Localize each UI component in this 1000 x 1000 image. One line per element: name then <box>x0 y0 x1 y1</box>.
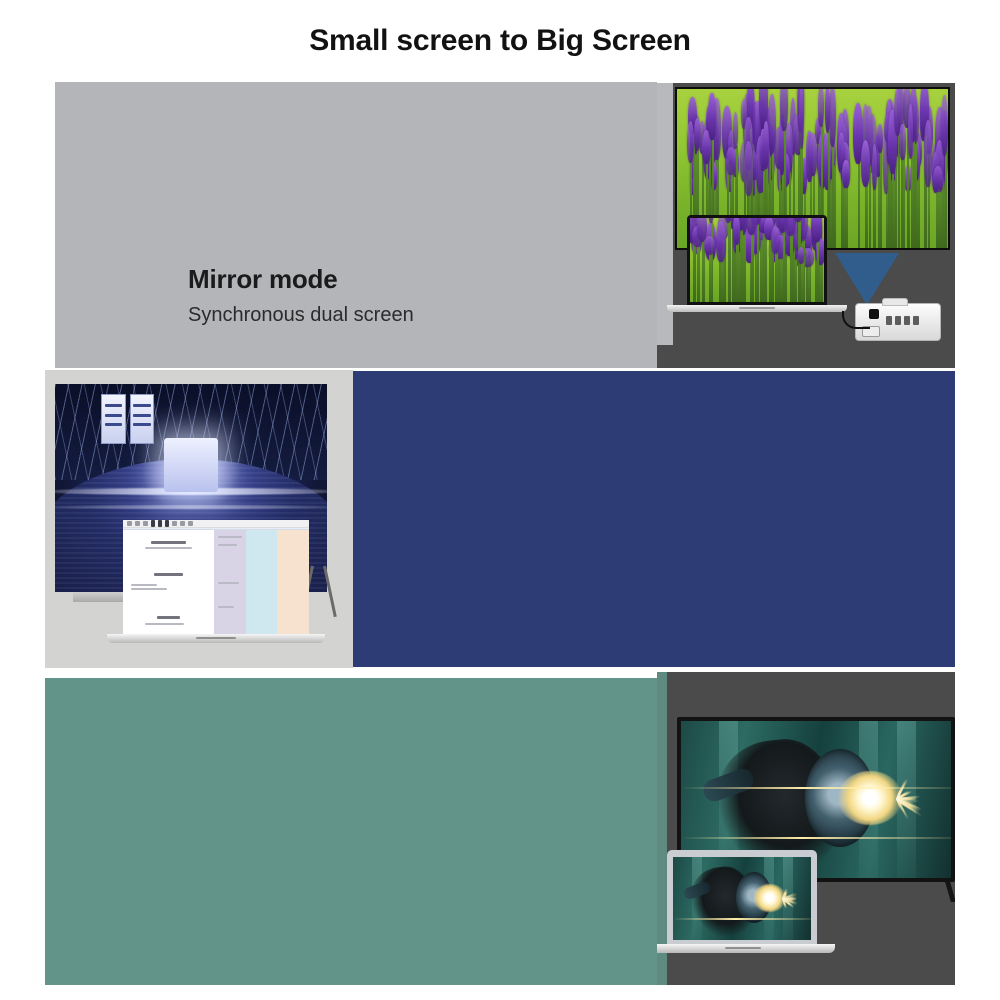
page-title: Small screen to Big Screen <box>0 24 1000 58</box>
panel-edge-accent <box>657 672 667 985</box>
mirror-mode-subheading: Synchronous dual screen <box>188 301 618 330</box>
movie-scene-laptop <box>673 857 811 940</box>
editor-pane-cyan <box>246 530 278 634</box>
arena-banner <box>130 394 154 444</box>
arena-banner <box>101 394 125 444</box>
section-expansion-mode-panel: Expansion mode Splitting screen for both… <box>353 371 955 667</box>
section-mirror-mode-panel: Mirror mode Synchronous dual screen <box>55 82 657 368</box>
mirror-mode-caption: Mirror mode Synchronous dual screen <box>188 264 618 330</box>
expansion-mode-illustration <box>45 370 353 668</box>
hdmi-plug <box>869 309 879 319</box>
hdmi-cable <box>842 311 870 329</box>
document-editor-window <box>123 520 309 634</box>
mirror-mode-heading: Mirror mode <box>188 264 618 295</box>
laptop-hinge <box>311 566 333 618</box>
projector-top-vent <box>882 298 908 306</box>
laptop-base <box>657 944 835 953</box>
editor-pane-peach <box>277 530 309 634</box>
laptop-base <box>667 305 847 312</box>
editor-pane-purple <box>214 530 246 634</box>
laptop-base <box>107 634 325 643</box>
jumbotron <box>164 438 218 492</box>
section-theater-panel: Smart family theater Connect TV and enjo… <box>45 678 657 985</box>
projector-ports <box>886 316 932 330</box>
promo-page: Small screen to Big Screen Mirror mode S… <box>0 0 1000 1000</box>
theater-illustration <box>657 672 955 985</box>
mirror-mode-illustration <box>657 83 955 368</box>
laptop-screen-mirrored <box>687 215 827 305</box>
document-page <box>123 530 214 634</box>
laptop-screen-extended <box>123 520 309 634</box>
lavender-photo-laptop <box>690 218 824 302</box>
editor-toolbar <box>123 520 309 528</box>
laptop-screen-theater <box>667 850 817 945</box>
